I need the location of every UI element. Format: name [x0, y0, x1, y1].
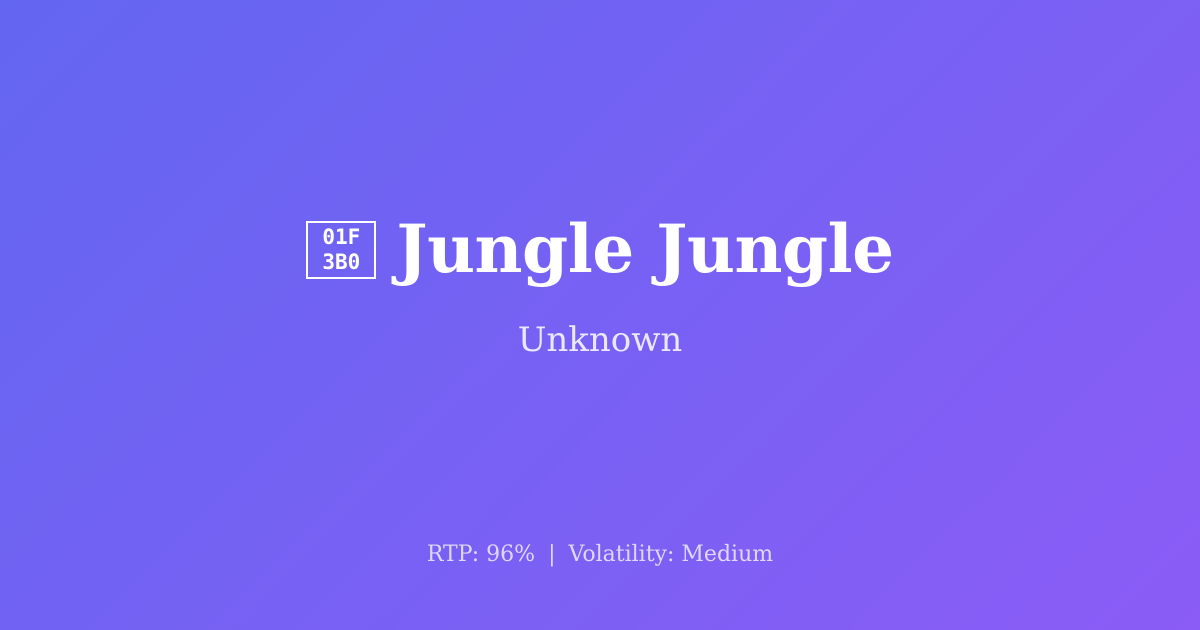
slot-machine-icon: 01F 3B0 — [306, 221, 376, 279]
volatility-label: Volatility: — [569, 542, 675, 567]
rtp-label: RTP: — [427, 542, 479, 567]
meta-separator: | — [542, 542, 561, 567]
game-provider-subtitle: Unknown — [518, 320, 683, 361]
game-meta-line: RTP: 96% | Volatility: Medium — [0, 542, 1200, 568]
game-og-card: 01F 3B0 Jungle Jungle Unknown RTP: 96% |… — [0, 0, 1200, 630]
page-title: Jungle Jungle — [396, 215, 893, 284]
title-row: 01F 3B0 Jungle Jungle — [0, 215, 1200, 284]
tofu-codepoint-row-bottom: 3B0 — [322, 250, 360, 275]
hero-block: 01F 3B0 Jungle Jungle Unknown — [0, 215, 1200, 361]
rtp-value: 96% — [486, 542, 535, 567]
tofu-codepoint-row-top: 01F — [322, 225, 360, 250]
volatility-value: Medium — [681, 542, 773, 567]
